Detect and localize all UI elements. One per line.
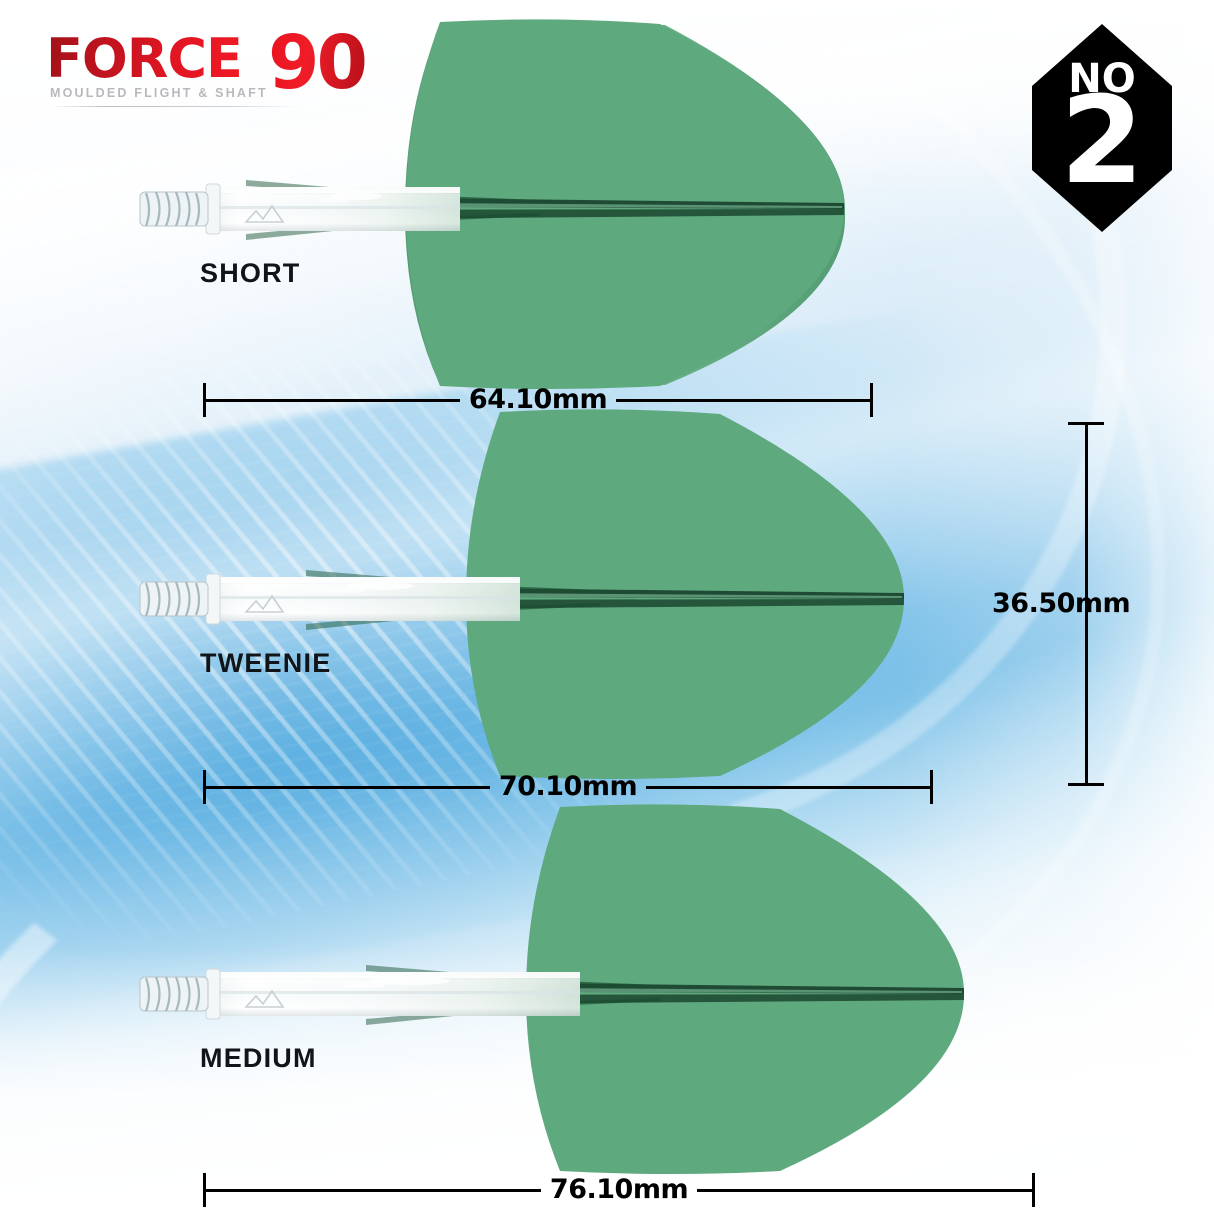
badge-number-label: 2 — [1012, 82, 1192, 202]
dart-tweenie — [120, 400, 950, 780]
dimension-tweenie-length: 70.10mm — [203, 770, 933, 804]
size-label-medium: MEDIUM — [200, 1043, 317, 1074]
shaft — [140, 184, 460, 234]
dimension-tick-right — [1032, 1173, 1035, 1207]
dimension-tick-left — [203, 1173, 206, 1207]
dart-medium — [120, 795, 1020, 1175]
dart-short — [120, 10, 890, 390]
dimension-tick-left — [203, 383, 206, 417]
dimension-short-length: 64.10mm — [203, 383, 873, 417]
product-spec-sheet: FORCE 90 MOULDED FLIGHT & SHAFT NO 2 — [0, 0, 1214, 1214]
dimension-medium-length: 76.10mm — [203, 1173, 1035, 1207]
size-label-tweenie: TWEENIE — [200, 648, 331, 679]
flight-shape-badge: NO 2 — [1012, 20, 1192, 236]
dimension-tick-bottom — [1068, 783, 1104, 786]
dimension-value-tweenie: 70.10mm — [490, 770, 646, 804]
shaft-thread — [140, 582, 208, 616]
dimension-value-short: 64.10mm — [460, 383, 616, 417]
dimension-tick-left — [203, 770, 206, 804]
shaft — [140, 969, 580, 1019]
shaft-thread — [140, 192, 208, 226]
dimension-tick-top — [1068, 422, 1104, 425]
dimension-tick-right — [930, 770, 933, 804]
dimension-value-flight-height: 36.50mm — [992, 588, 1130, 619]
shaft-thread — [140, 977, 208, 1011]
size-label-short: SHORT — [200, 258, 301, 289]
dimension-value-medium: 76.10mm — [541, 1173, 697, 1207]
shaft — [140, 574, 520, 624]
dimension-tick-right — [870, 383, 873, 417]
